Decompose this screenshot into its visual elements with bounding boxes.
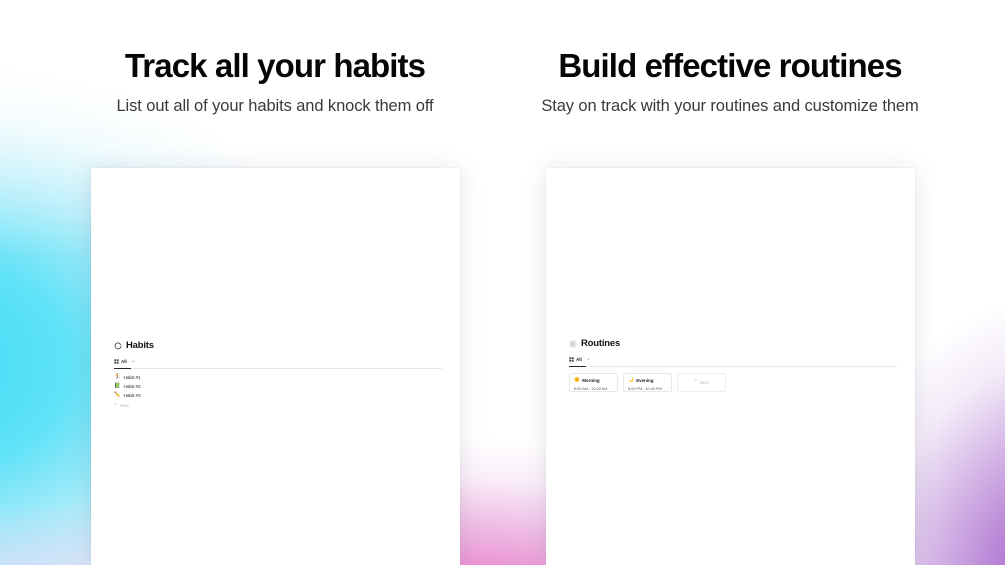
sun-emoji: 🌞 (574, 378, 580, 383)
habit-list: 🏃 Habit #1 📗 Habit #2 ✏️ Habit #3 + New (114, 373, 442, 410)
habits-tabbar: All + (114, 359, 442, 369)
grid-icon (114, 359, 119, 364)
green-book-emoji: 📗 (114, 384, 120, 389)
habit-name: Habit #3 (124, 393, 141, 398)
pencil-emoji: ✏️ (114, 393, 120, 398)
routine-card-header: 🌙 Evening (628, 378, 667, 383)
list-item[interactable]: 📗 Habit #2 (114, 382, 442, 391)
routines-tabbar: All + (569, 357, 897, 367)
new-habit-button[interactable]: + New (114, 401, 442, 410)
routine-card-morning[interactable]: 🌞 Morning 6:00 AM - 10:00 AM (569, 373, 618, 392)
list-item[interactable]: ✏️ Habit #3 (114, 391, 442, 400)
loop-circle-icon (114, 342, 122, 350)
list-item[interactable]: 🏃 Habit #1 (114, 373, 442, 382)
routine-time-range: 6:00 PM - 10:00 PM (628, 386, 667, 391)
routines-app-screenshot: Routines All + 🌞 (546, 168, 915, 565)
habits-app-content: Habits All + (114, 340, 442, 410)
routines-subheadline: Stay on track with your routines and cus… (455, 97, 1005, 116)
routines-heading-block: Build effective routines Stay on track w… (455, 0, 1005, 116)
new-habit-label: New (120, 403, 129, 408)
new-routine-button[interactable]: + New (677, 373, 726, 392)
moon-emoji: 🌙 (628, 378, 634, 383)
tab-all-routines-label: All (576, 357, 582, 362)
plus-icon: + (114, 403, 117, 408)
routine-card-grid: 🌞 Morning 6:00 AM - 10:00 AM 🌙 Evening 6… (569, 373, 897, 392)
routines-app-content: Routines All + 🌞 (569, 338, 897, 392)
routines-headline: Build effective routines (455, 48, 1005, 84)
sun-icon (569, 340, 577, 348)
habits-section-header: Habits (114, 340, 442, 351)
tab-all-habits-label: All (121, 359, 127, 364)
habit-name: Habit #2 (124, 384, 141, 389)
routine-time-range: 6:00 AM - 10:00 AM (574, 386, 613, 391)
grid-icon (569, 357, 574, 362)
plus-icon: + (695, 380, 698, 385)
tab-all-routines[interactable]: All (569, 357, 582, 364)
routines-section-title: Routines (581, 338, 620, 349)
tab-all-habits[interactable]: All (114, 359, 127, 366)
routine-name: Morning (582, 378, 599, 383)
habit-name: Habit #1 (124, 375, 141, 380)
promo-stage: Track all your habits List out all of yo… (0, 0, 1005, 565)
routine-name: Evening (636, 378, 653, 383)
routine-card-evening[interactable]: 🌙 Evening 6:00 PM - 10:00 PM (623, 373, 672, 392)
routines-section-header: Routines (569, 338, 897, 349)
runner-emoji: 🏃 (114, 375, 120, 380)
routine-card-header: 🌞 Morning (574, 378, 613, 383)
add-routine-view-button[interactable]: + (587, 358, 590, 364)
add-habit-view-button[interactable]: + (132, 360, 135, 366)
habits-section-title: Habits (126, 340, 154, 351)
habits-app-screenshot: Habits All + (91, 168, 460, 565)
new-routine-label: New (700, 380, 709, 385)
